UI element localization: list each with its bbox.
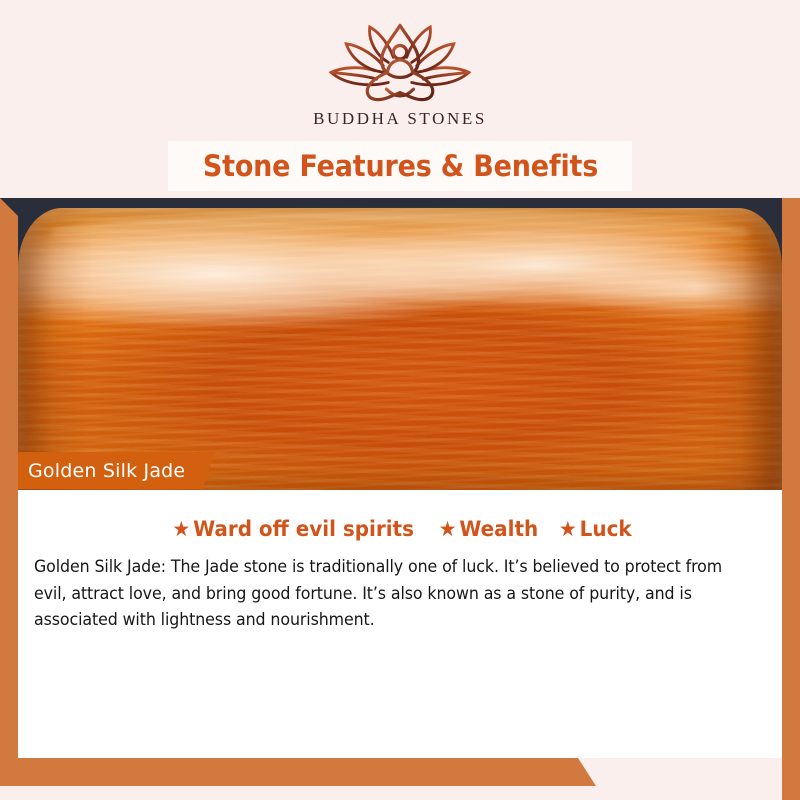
brand-name: BUDDHA STONES	[313, 109, 487, 129]
lotus-meditation-icon	[315, 22, 485, 106]
infographic-page: BUDDHA STONES Stone Features & Benefits …	[0, 0, 800, 800]
stone-description: Golden Silk Jade: The Jade stone is trad…	[34, 554, 740, 634]
header: BUDDHA STONES Stone Features & Benefits	[0, 0, 800, 198]
benefit-label: Wealth	[460, 517, 539, 541]
stone-right-shading	[696, 208, 782, 490]
footer-strip	[0, 758, 800, 800]
benefit-label: Ward off evil spirits	[193, 517, 414, 541]
star-icon: ★	[172, 519, 190, 540]
benefit-item-0: ★ Ward off evil spirits	[172, 517, 414, 541]
benefit-label: Luck	[580, 517, 632, 541]
content-panel: ★ Ward off evil spirits ★ Wealth ★ Luck …	[0, 490, 800, 758]
page-title: Stone Features & Benefits	[202, 149, 597, 183]
star-icon: ★	[439, 519, 457, 540]
stone-name-label: Golden Silk Jade	[28, 460, 185, 482]
benefits-list: ★ Ward off evil spirits ★ Wealth ★ Luck	[0, 517, 800, 541]
stone-photo	[0, 198, 800, 490]
benefit-item-1: ★ Wealth	[439, 517, 539, 541]
brand-logo: BUDDHA STONES	[0, 22, 800, 129]
stone-highlight	[50, 212, 750, 254]
title-banner: Stone Features & Benefits	[168, 141, 632, 191]
star-icon: ★	[559, 519, 577, 540]
benefit-item-2: ★ Luck	[559, 517, 632, 541]
stone-name-badge: Golden Silk Jade	[0, 452, 215, 489]
stone-left-shading	[18, 208, 92, 490]
